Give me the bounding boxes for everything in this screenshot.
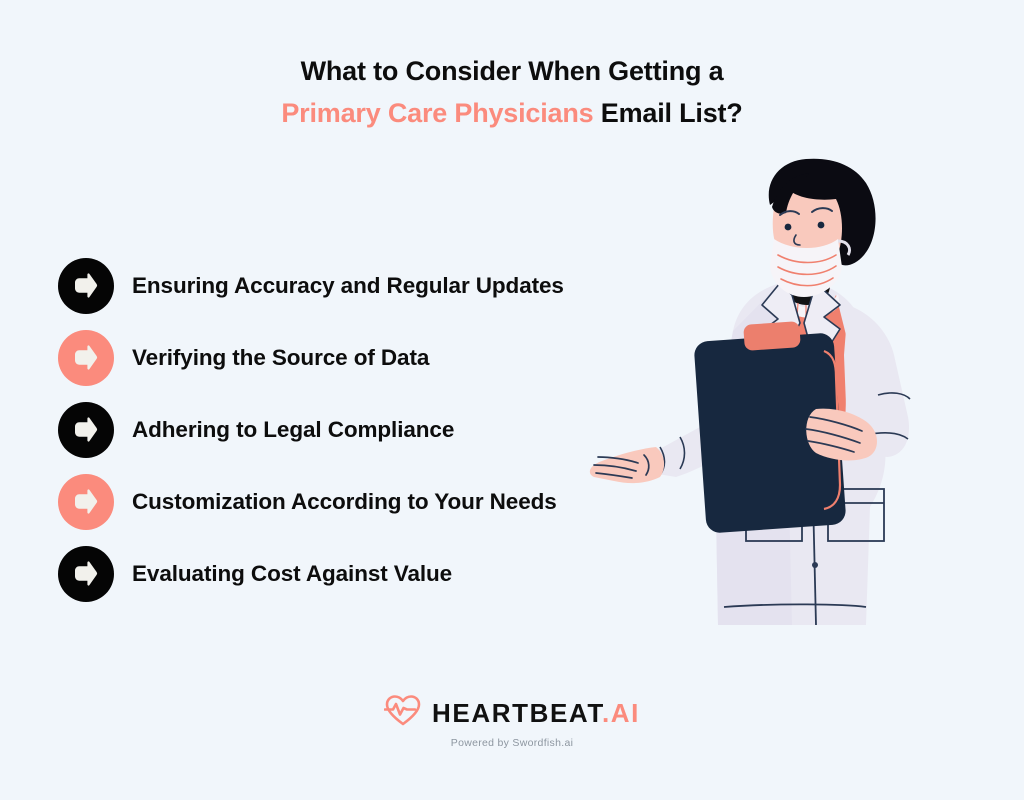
- eye-left: [785, 224, 792, 231]
- heartbeat-pulse-icon: [384, 694, 422, 732]
- list-item-label: Adhering to Legal Compliance: [132, 417, 454, 443]
- logo-word-main: HEARTBEAT: [432, 698, 602, 728]
- logo-tagline: Powered by Swordfish.ai: [0, 737, 1024, 749]
- eye-right: [818, 222, 825, 229]
- list-item-label: Evaluating Cost Against Value: [132, 561, 452, 587]
- logo-wordmark: HEARTBEAT.AI: [432, 700, 640, 726]
- arrow-right-icon: [58, 402, 114, 458]
- logo-word-accent: .AI: [602, 698, 640, 728]
- arrow-right-icon: [58, 258, 114, 314]
- list-item-label: Customization According to Your Needs: [132, 489, 557, 515]
- title-accent-text: Primary Care Physicians: [281, 98, 593, 128]
- infographic-canvas: What to Consider When Getting a Primary …: [0, 0, 1024, 800]
- title-line-2: Primary Care Physicians Email List?: [0, 92, 1024, 134]
- list-item-label: Ensuring Accuracy and Regular Updates: [132, 273, 564, 299]
- page-title: What to Consider When Getting a Primary …: [0, 50, 1024, 134]
- arrow-right-icon: [58, 474, 114, 530]
- brand-logo: HEARTBEAT.AI Powered by Swordfish.ai: [0, 694, 1024, 749]
- list-item-label: Verifying the Source of Data: [132, 345, 429, 371]
- title-rest-text: Email List?: [593, 98, 742, 128]
- doctor-with-clipboard-illustration: [548, 155, 1018, 645]
- arrow-right-icon: [58, 330, 114, 386]
- logo-row: HEARTBEAT.AI: [384, 694, 640, 732]
- clipboard-clip: [743, 321, 801, 351]
- title-line-1: What to Consider When Getting a: [0, 50, 1024, 92]
- arrow-right-icon: [58, 546, 114, 602]
